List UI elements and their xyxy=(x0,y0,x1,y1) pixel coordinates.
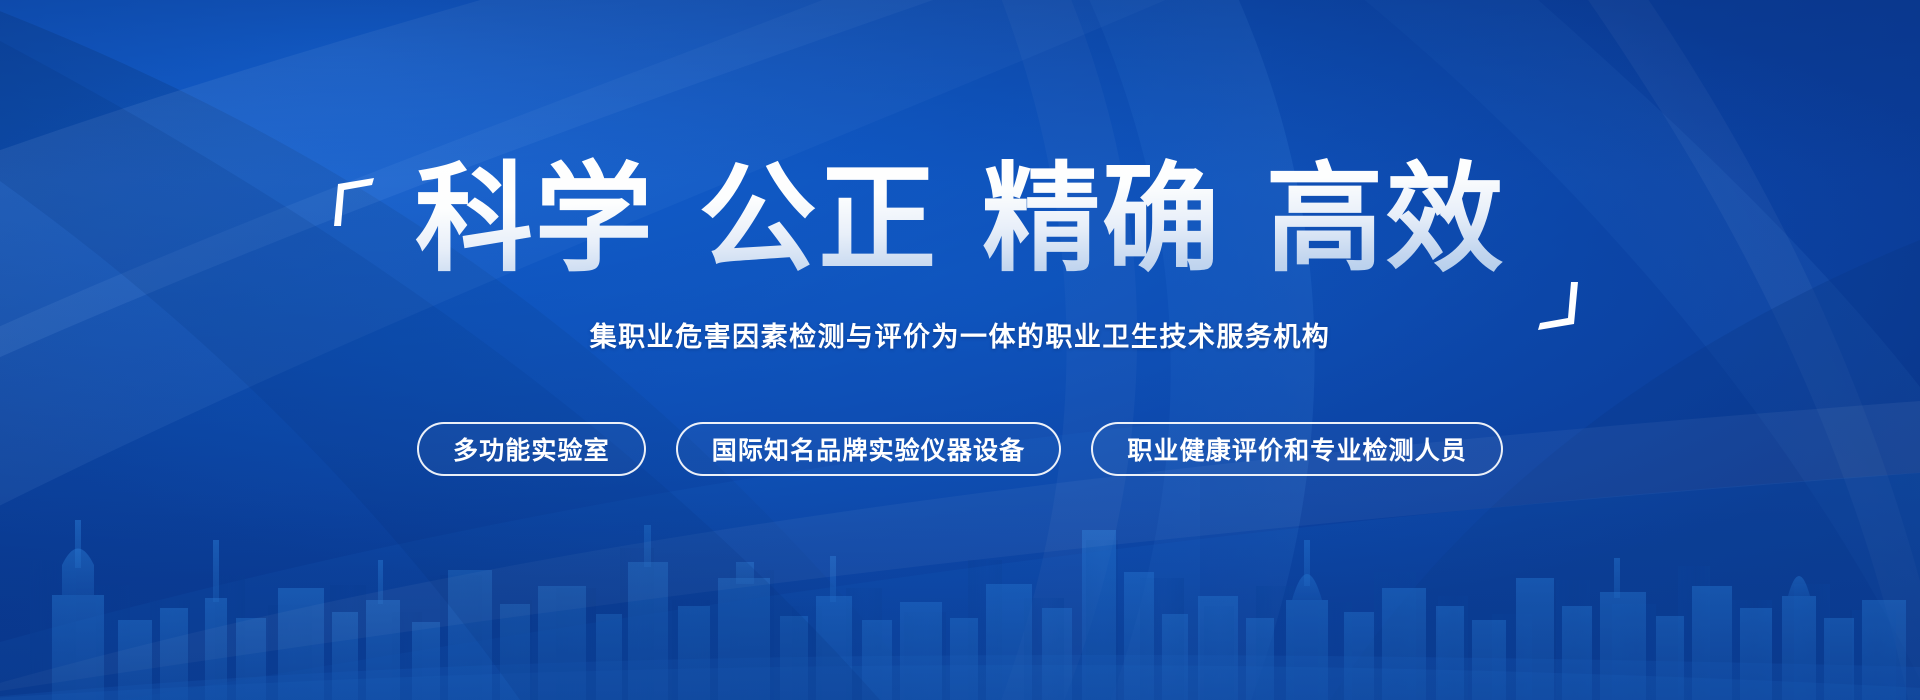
headline-word-4: 高效 xyxy=(1266,150,1506,289)
feature-pill-equipment[interactable]: 国际知名品牌实验仪器设备 xyxy=(676,422,1062,476)
page-title: 科学 公正 精确 高效 xyxy=(359,150,1561,289)
corner-quote-bracket-close-icon xyxy=(1536,280,1580,332)
corner-quote-bracket-open-icon xyxy=(332,176,376,228)
headline-word-1: 科学 xyxy=(415,150,655,289)
feature-pill-row: 多功能实验室 国际知名品牌实验仪器设备 职业健康评价和专业检测人员 xyxy=(417,422,1503,476)
feature-pill-lab[interactable]: 多功能实验室 xyxy=(417,422,646,476)
banner-content: 科学 公正 精确 高效 集职业危害因素检测与评价为一体的职业卫生技术服务机构 多… xyxy=(0,0,1920,700)
hero-banner: 科学 公正 精确 高效 集职业危害因素检测与评价为一体的职业卫生技术服务机构 多… xyxy=(0,0,1920,700)
subtitle: 集职业危害因素检测与评价为一体的职业卫生技术服务机构 xyxy=(590,315,1331,354)
feature-pill-personnel[interactable]: 职业健康评价和专业检测人员 xyxy=(1091,422,1503,476)
headline-row: 科学 公正 精确 高效 xyxy=(330,150,1590,289)
headline-word-2: 公正 xyxy=(698,150,938,289)
headline-word-3: 精确 xyxy=(982,150,1222,289)
